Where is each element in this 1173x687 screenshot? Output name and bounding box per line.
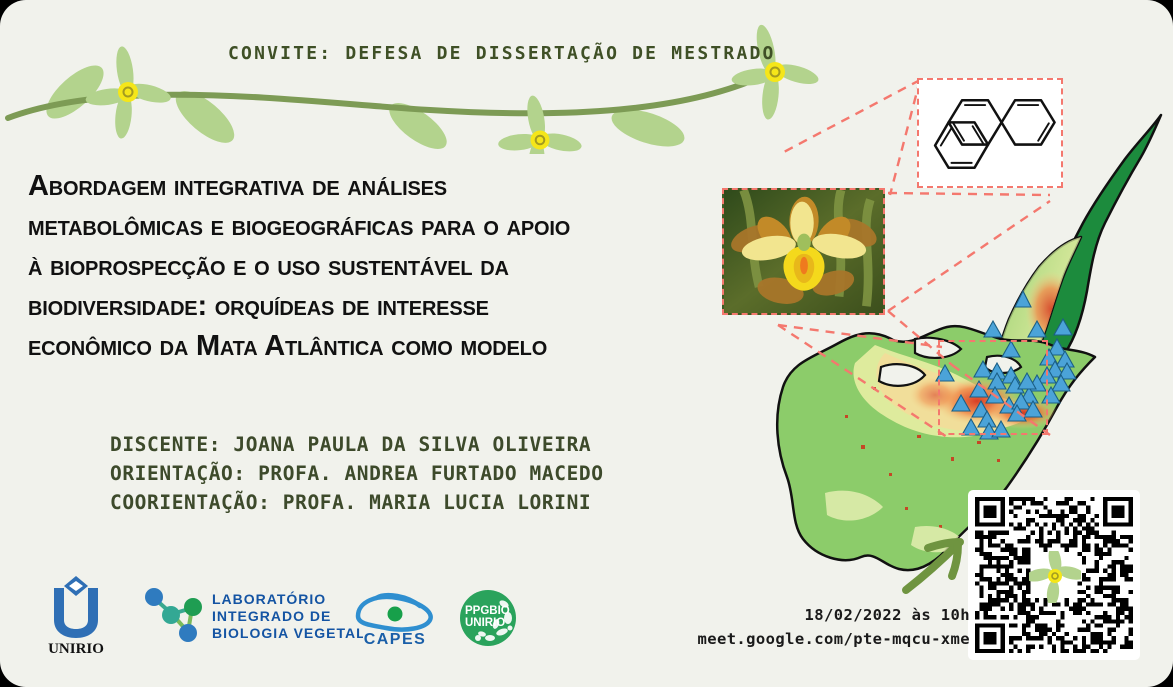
capes-logo: CAPES: [346, 586, 444, 648]
unirio-logo-text: UNIRIO: [48, 641, 104, 656]
map-zoom-rectangle: [938, 340, 1048, 435]
ppgbio-logo-line2: UNIRIO: [465, 617, 505, 629]
lib-logo-line2: INTEGRADO DE: [212, 608, 331, 624]
laboratorio-integrado-biologia-vegetal-logo: LABORATÓRIO INTEGRADO DE BIOLOGIA VEGETA…: [138, 584, 363, 646]
phenanthrene-icon: [919, 80, 1061, 186]
ppgbio-logo-line1: PPGBIO: [465, 605, 510, 617]
meeting-link[interactable]: meet.google.com/pte-mqcu-xme: [600, 627, 970, 651]
lib-logo-line1: LABORATÓRIO: [212, 590, 326, 607]
title-line-3: à bioprospecção e o uso sustentável da: [28, 246, 718, 286]
title-line-2: metabolômicas e biogeográficas para o ap…: [28, 206, 718, 246]
lib-logo-line3: BIOLOGIA VEGETAL: [212, 625, 363, 641]
title-line-4: biodiversidade: orquídeas de interesse: [28, 286, 718, 326]
title-line-5: econômico da Mata Atlântica como modelo: [28, 326, 718, 366]
meeting-datetime: 18/02/2022 às 10h: [600, 603, 970, 627]
invitation-poster: CONVITE: DEFESA DE DISSERTAÇÃO DE MESTRA…: [0, 0, 1173, 687]
qr-center-orchid-icon: [1029, 551, 1081, 603]
credit-discente: DISCENTE: JOANA PAULA DA SILVA OLIVEIRA: [110, 430, 604, 459]
green-arrow-icon: [898, 528, 972, 598]
yellow-orchid-photo: [722, 188, 885, 315]
invitation-headline: CONVITE: DEFESA DE DISSERTAÇÃO DE MESTRA…: [228, 43, 776, 64]
orchid-photo-art: [724, 190, 883, 313]
unirio-logo: UNIRIO: [36, 574, 116, 656]
credits-block: DISCENTE: JOANA PAULA DA SILVA OLIVEIRA …: [110, 430, 604, 517]
orchid-vine-decoration: [0, 14, 840, 154]
credit-orientacao: ORIENTAÇÃO: PROFA. ANDREA FURTADO MACEDO: [110, 459, 604, 488]
title-line-1: Abordagem integrativa de análises: [28, 166, 718, 206]
meeting-info: 18/02/2022 às 10h meet.google.com/pte-mq…: [600, 603, 970, 651]
page-title: Abordagem integrativa de análises metabo…: [28, 166, 718, 366]
logo-row: UNIRIO LABORATÓRIO INTEGRADO DE BIOLOGIA…: [28, 572, 528, 662]
ppgbio-unirio-logo: PPGBIO UNIRIO: [456, 588, 518, 648]
credit-coorientacao: COORIENTAÇÃO: PROFA. MARIA LUCIA LORINI: [110, 488, 604, 517]
chemical-structure-box: [917, 78, 1063, 188]
capes-logo-text: CAPES: [364, 631, 427, 648]
